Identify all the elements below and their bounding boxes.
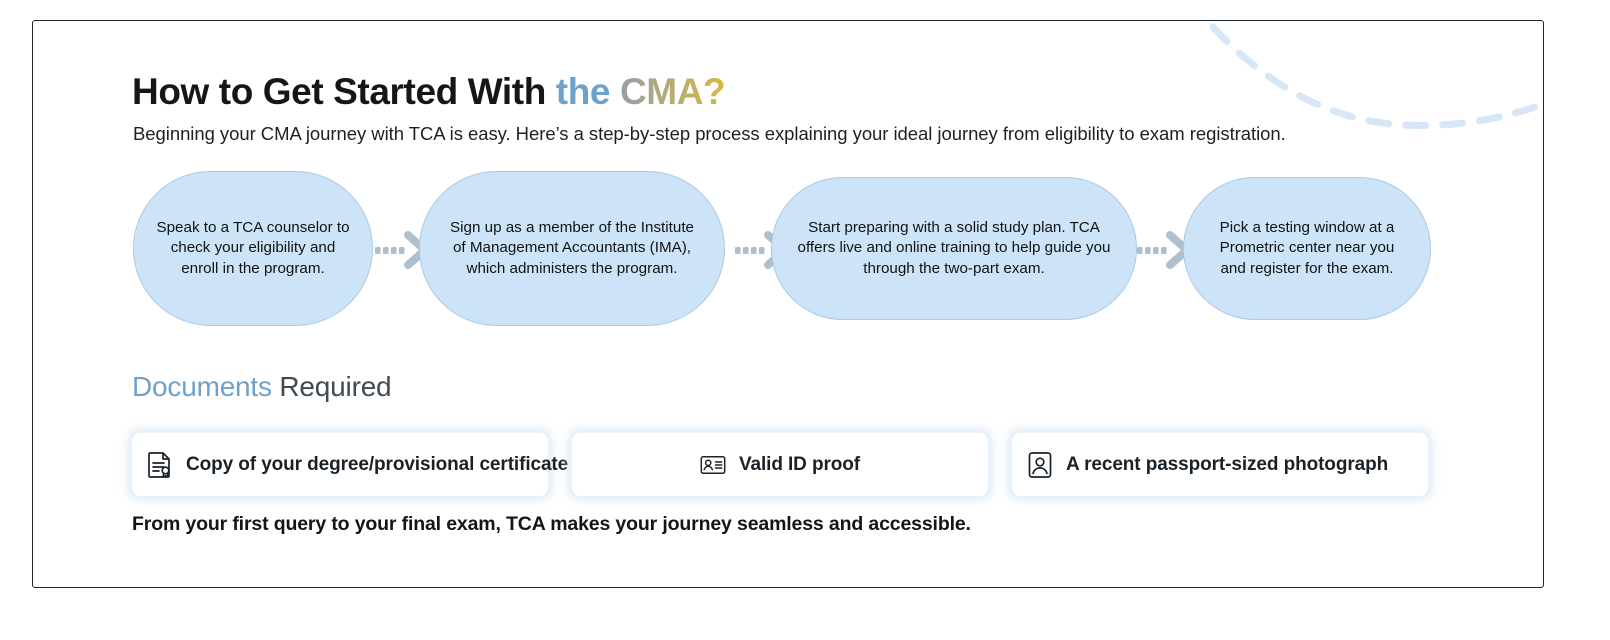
- documents-heading-accent: Documents: [132, 371, 272, 402]
- document-card-photograph[interactable]: A recent passport-sized photograph: [1011, 432, 1429, 497]
- document-cards: Copy of your degree/provisional certific…: [131, 432, 1531, 500]
- step-bubble-4: Pick a testing window at a Prometric cen…: [1183, 177, 1431, 320]
- document-card-id-proof[interactable]: Valid ID proof: [571, 432, 989, 497]
- certificate-document-icon: [147, 451, 173, 479]
- step-bubble-2-text: Sign up as a member of the Institute of …: [442, 218, 702, 280]
- documents-heading-rest: Required: [272, 371, 392, 402]
- id-card-icon: [700, 451, 726, 479]
- step-bubble-3: Start preparing with a solid study plan.…: [771, 177, 1137, 320]
- documents-required-heading: Documents Required: [132, 371, 391, 403]
- page-title-main: How to Get Started With: [132, 71, 556, 112]
- page-title: How to Get Started With the CMA?: [132, 71, 725, 113]
- page-title-accent-the: the: [556, 71, 620, 112]
- closing-note: From your first query to your final exam…: [132, 513, 971, 536]
- document-card-id-proof-label: Valid ID proof: [739, 454, 860, 476]
- step-bubble-4-text: Pick a testing window at a Prometric cen…: [1206, 218, 1408, 280]
- page-subtitle: Beginning your CMA journey with TCA is e…: [133, 123, 1286, 145]
- document-card-photograph-label: A recent passport-sized photograph: [1066, 454, 1388, 476]
- step-bubble-1-text: Speak to a TCA counselor to check your e…: [156, 218, 350, 280]
- step-bubble-3-text: Start preparing with a solid study plan.…: [794, 218, 1114, 280]
- document-card-certificate[interactable]: Copy of your degree/provisional certific…: [131, 432, 549, 497]
- dashed-curve-decoration: [1191, 20, 1544, 137]
- step-flow: Speak to a TCA counselor to check your e…: [133, 171, 1433, 331]
- document-card-certificate-label: Copy of your degree/provisional certific…: [186, 454, 568, 476]
- step-bubble-1: Speak to a TCA counselor to check your e…: [133, 171, 373, 326]
- page-title-accent-cma: CMA?: [620, 71, 725, 112]
- portrait-photo-icon: [1027, 451, 1053, 479]
- step-bubble-2: Sign up as a member of the Institute of …: [419, 171, 725, 326]
- content-frame: How to Get Started With the CMA? Beginni…: [32, 20, 1544, 588]
